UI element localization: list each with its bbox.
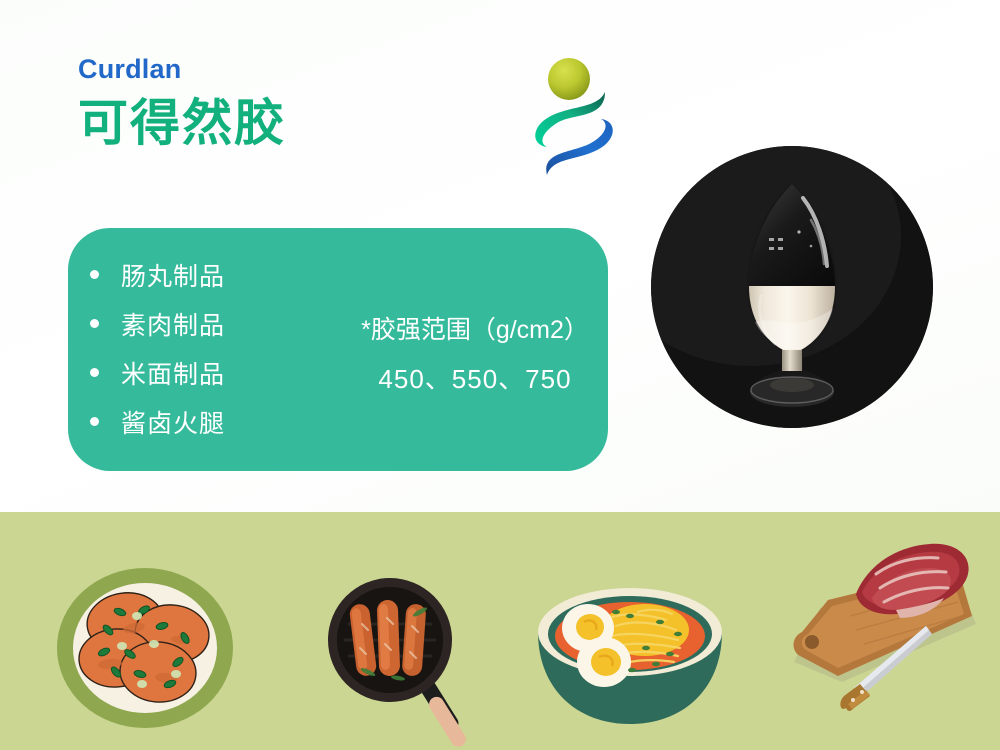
logo-sphere-icon xyxy=(548,58,590,100)
food-illustration-band xyxy=(0,512,1000,750)
gel-strength-label: *胶强范围（g/cm2） xyxy=(350,310,600,346)
applications-list: 肠丸制品 素肉制品 米面制品 酱卤火腿 xyxy=(90,250,350,446)
noodle-bowl-illustration xyxy=(520,512,740,750)
page-title: Curdlan 可得然胶 xyxy=(78,55,498,152)
slide-root: Curdlan 可得然胶 xyxy=(0,0,1000,750)
title-english: Curdlan xyxy=(78,55,498,85)
gel-strength-values: 450、550、750 xyxy=(350,359,600,396)
list-item-label: 米面制品 xyxy=(121,355,225,391)
logo-green-ribbon-icon xyxy=(535,92,605,147)
meat-cutting-board-illustration xyxy=(780,512,990,750)
fish-cake-plate-illustration xyxy=(30,512,260,750)
list-item: 酱卤火腿 xyxy=(90,397,350,446)
list-item-label: 素肉制品 xyxy=(121,306,225,342)
title-chinese: 可得然胶 xyxy=(78,95,498,153)
company-logo xyxy=(527,47,619,182)
list-item: 肠丸制品 xyxy=(90,250,350,299)
flask-stem xyxy=(782,350,802,371)
bullet-dot-icon xyxy=(90,270,99,279)
product-photo xyxy=(651,146,933,428)
sausage-skillet-illustration xyxy=(300,512,500,750)
list-item: 米面制品 xyxy=(90,348,350,397)
list-item-label: 肠丸制品 xyxy=(121,257,225,293)
list-item: 素肉制品 xyxy=(90,299,350,348)
gel-strength-note: *胶强范围（g/cm2） 450、550、750 xyxy=(350,310,600,396)
list-item-label: 酱卤火腿 xyxy=(121,404,225,440)
bullet-dot-icon xyxy=(90,417,99,426)
egg-half xyxy=(577,637,631,687)
photo-contents xyxy=(651,146,933,428)
product-applications-card: 肠丸制品 素肉制品 米面制品 酱卤火腿 *胶强范围（g/cm2） 450、550… xyxy=(68,228,608,471)
logo-blue-ribbon-icon xyxy=(546,119,612,175)
bullet-dot-icon xyxy=(90,319,99,328)
bullet-dot-icon xyxy=(90,368,99,377)
